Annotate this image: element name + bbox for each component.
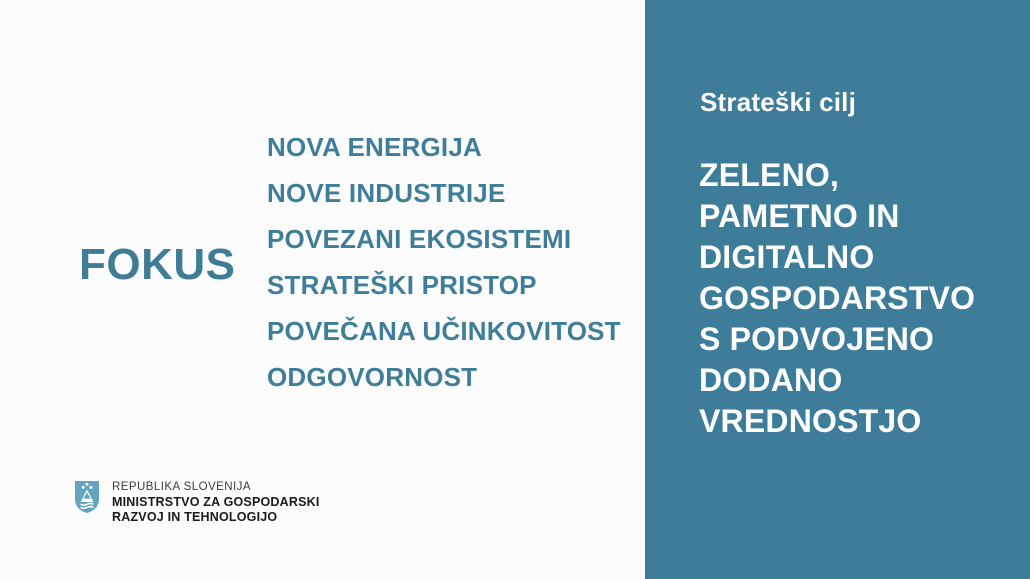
focus-item: POVEČANA UČINKOVITOST	[267, 308, 637, 354]
slovenia-coat-of-arms-icon	[74, 480, 100, 514]
fokus-heading: FOKUS	[79, 243, 236, 287]
goal-text-line: ZELENO,	[699, 155, 1029, 196]
focus-item: ODGOVORNOST	[267, 354, 637, 400]
focus-items-list: NOVA ENERGIJA NOVE INDUSTRIJE POVEZANI E…	[267, 124, 637, 400]
logo-line-ministry-2: RAZVOJ IN TEHNOLOGIJO	[112, 510, 320, 525]
ministry-logo: REPUBLIKA SLOVENIJA MINISTRSTVO ZA GOSPO…	[74, 479, 320, 525]
focus-item: NOVE INDUSTRIJE	[267, 170, 637, 216]
left-content-panel: FOKUS NOVA ENERGIJA NOVE INDUSTRIJE POVE…	[0, 0, 645, 579]
goal-text-line: PAMETNO IN	[699, 196, 1029, 237]
goal-text-line: DODANO	[699, 360, 1029, 401]
logo-line-ministry-1: MINISTRSTVO ZA GOSPODARSKI	[112, 495, 320, 510]
presentation-slide: FOKUS NOVA ENERGIJA NOVE INDUSTRIJE POVE…	[0, 0, 1030, 579]
strategic-goal-panel: Strateški cilj ZELENO, PAMETNO IN DIGITA…	[645, 0, 1030, 579]
strategic-goal-text: ZELENO, PAMETNO IN DIGITALNO GOSPODARSTV…	[699, 155, 1029, 442]
goal-text-line: GOSPODARSTVO	[699, 278, 1029, 319]
focus-item: STRATEŠKI PRISTOP	[267, 262, 637, 308]
focus-item: POVEZANI EKOSISTEMI	[267, 216, 637, 262]
strategic-goal-kicker: Strateški cilj	[700, 88, 856, 117]
goal-text-line: S PODVOJENO	[699, 319, 1029, 360]
focus-item: NOVA ENERGIJA	[267, 124, 637, 170]
ministry-logo-text: REPUBLIKA SLOVENIJA MINISTRSTVO ZA GOSPO…	[112, 479, 320, 525]
goal-text-line: DIGITALNO	[699, 237, 1029, 278]
logo-line-republic: REPUBLIKA SLOVENIJA	[112, 480, 320, 495]
goal-text-line: VREDNOSTJO	[699, 401, 1029, 442]
